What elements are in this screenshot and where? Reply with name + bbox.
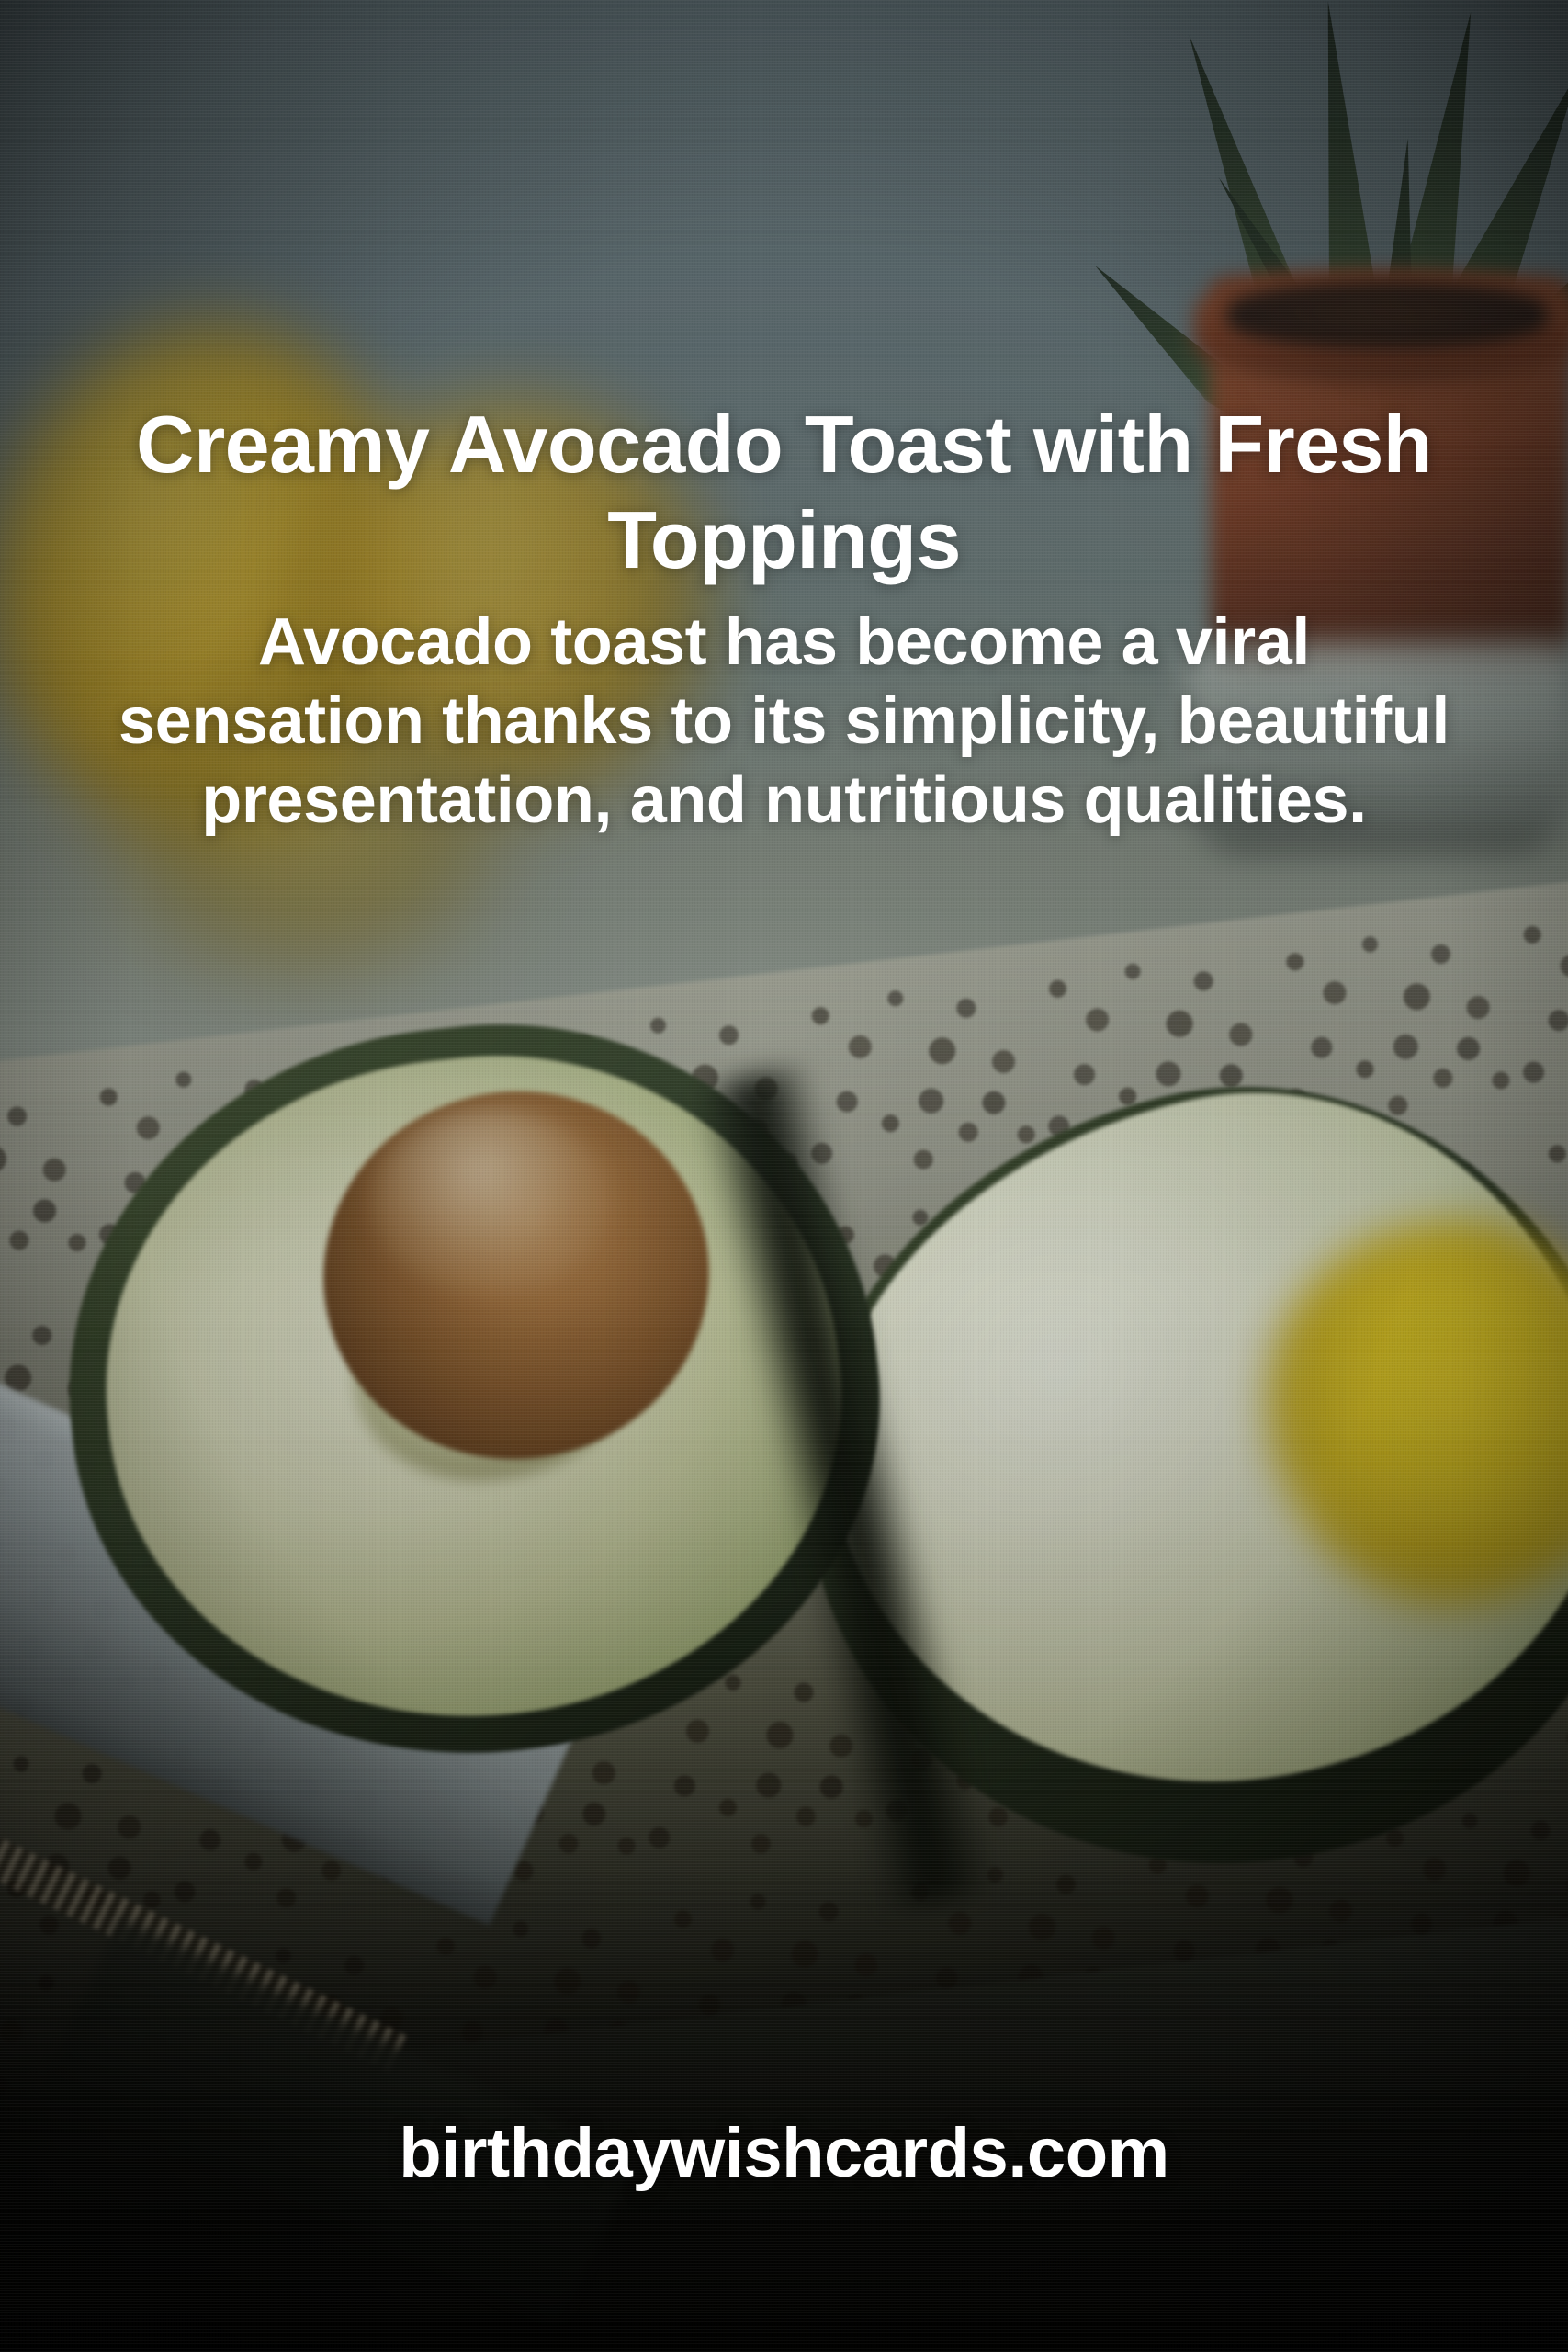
page-subtitle: Avocado toast has become a viral sensati…: [110, 603, 1458, 841]
site-url-watermark: birthdaywishcards.com: [0, 2113, 1568, 2193]
page-title: Creamy Avocado Toast with Fresh Toppings: [110, 397, 1458, 588]
text-overlay: Creamy Avocado Toast with Fresh Toppings…: [0, 0, 1568, 2352]
headline-block: Creamy Avocado Toast with Fresh Toppings…: [0, 397, 1568, 841]
footer-block: birthdaywishcards.com: [0, 2113, 1568, 2193]
recipe-pin-card: Creamy Avocado Toast with Fresh Toppings…: [0, 0, 1568, 2352]
